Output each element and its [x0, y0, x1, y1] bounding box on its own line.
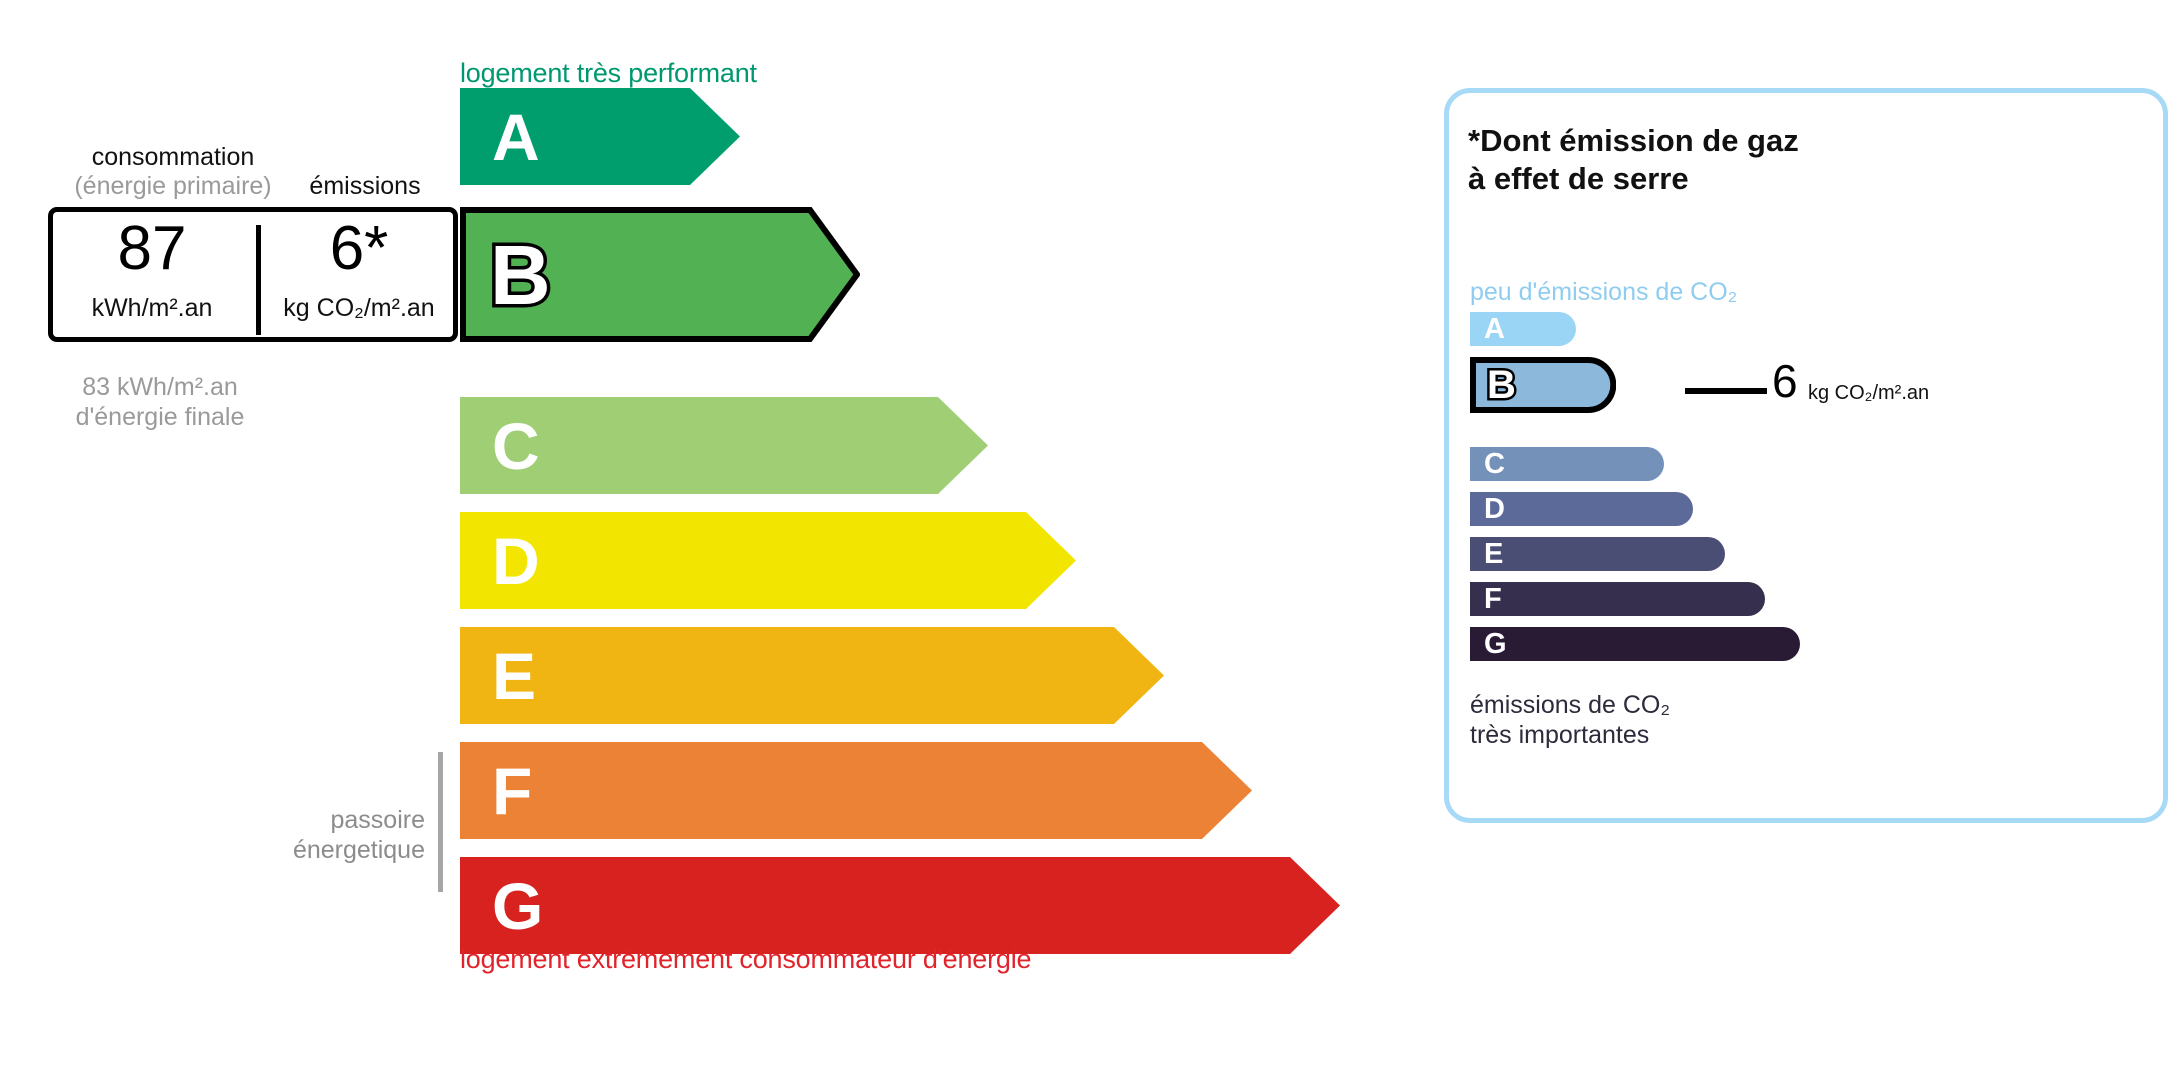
co2-callout-value: 6 [1772, 358, 1798, 404]
primary-energy-value: 87 [53, 218, 251, 280]
co2-class-bar-a: A [1470, 312, 1576, 346]
co2-low-label: peu d'émissions de CO₂ [1470, 278, 1737, 307]
co2-title-line1: *Dont émission de gaz [1468, 122, 1799, 160]
primary-energy-unit: kWh/m².an [53, 294, 251, 323]
co2-class-bar-b: B [1470, 357, 1616, 413]
passoire-label: passoire énergetique [255, 805, 425, 865]
final-energy-value: 83 kWh/m².an [50, 373, 270, 403]
co2-class-letter-b: B [1487, 365, 1516, 405]
energy-class-letter-d: D [492, 528, 540, 594]
energy-class-letter-b: B [490, 233, 551, 317]
energy-class-letter-a: A [492, 104, 540, 170]
emission-value: 6* [260, 218, 458, 280]
header-consumption-label: consommation [68, 143, 278, 172]
value-box: 87 kWh/m².an 6* kg CO₂/m².an [48, 207, 458, 342]
co2-class-letter-f: F [1484, 585, 1502, 614]
passoire-label-line2: énergetique [255, 835, 425, 865]
passoire-bracket [438, 752, 443, 892]
co2-callout-unit: kg CO₂/m².an [1808, 382, 1929, 405]
co2-class-bar-e: E [1470, 537, 1725, 571]
header-primary-energy-label: (énergie primaire) [44, 172, 302, 201]
co2-class-bar-g: G [1470, 627, 1800, 661]
primary-energy-cell: 87 kWh/m².an [53, 212, 251, 337]
co2-panel-title: *Dont émission de gaz à effet de serre [1468, 122, 1799, 198]
final-energy-note: 83 kWh/m².an d'énergie finale [50, 373, 270, 432]
energy-class-bar-d: D [460, 512, 1076, 609]
co2-callout-line [1685, 388, 1767, 394]
energy-class-bar-b: B [460, 207, 860, 342]
co2-class-letter-d: D [1484, 495, 1505, 524]
header-emissions-label: émissions [295, 172, 435, 201]
bottom-performance-note: logement extrêmement consommateur d'éner… [460, 944, 1031, 975]
co2-class-letter-g: G [1484, 630, 1507, 659]
co2-title-line2: à effet de serre [1468, 160, 1799, 198]
co2-class-letter-e: E [1484, 540, 1503, 569]
energy-class-letter-f: F [492, 758, 532, 824]
co2-class-bar-d: D [1470, 492, 1693, 526]
energy-class-letter-c: C [492, 413, 540, 479]
energy-class-bar-c: C [460, 397, 988, 494]
energy-class-bar-g: G [460, 857, 1340, 954]
co2-class-letter-c: C [1484, 450, 1505, 479]
co2-class-bar-c: C [1470, 447, 1664, 481]
energy-class-bar-e: E [460, 627, 1164, 724]
co2-class-letter-a: A [1484, 315, 1505, 344]
co2-high-label-line2: très importantes [1470, 720, 1670, 750]
final-energy-label: d'énergie finale [50, 403, 270, 433]
energy-class-letter-g: G [492, 873, 543, 939]
co2-high-label-line1: émissions de CO₂ [1470, 690, 1670, 720]
emission-unit: kg CO₂/m².an [260, 294, 458, 323]
energy-class-bar-f: F [460, 742, 1252, 839]
energy-class-letter-e: E [492, 643, 536, 709]
passoire-label-line1: passoire [255, 805, 425, 835]
co2-class-bar-f: F [1470, 582, 1765, 616]
emission-cell: 6* kg CO₂/m².an [260, 212, 458, 337]
dpe-diagram: logement très performant consommation (é… [0, 0, 2170, 1079]
co2-high-label: émissions de CO₂ très importantes [1470, 690, 1670, 750]
top-performance-note: logement très performant [460, 58, 757, 89]
energy-class-bar-a: A [460, 88, 740, 185]
